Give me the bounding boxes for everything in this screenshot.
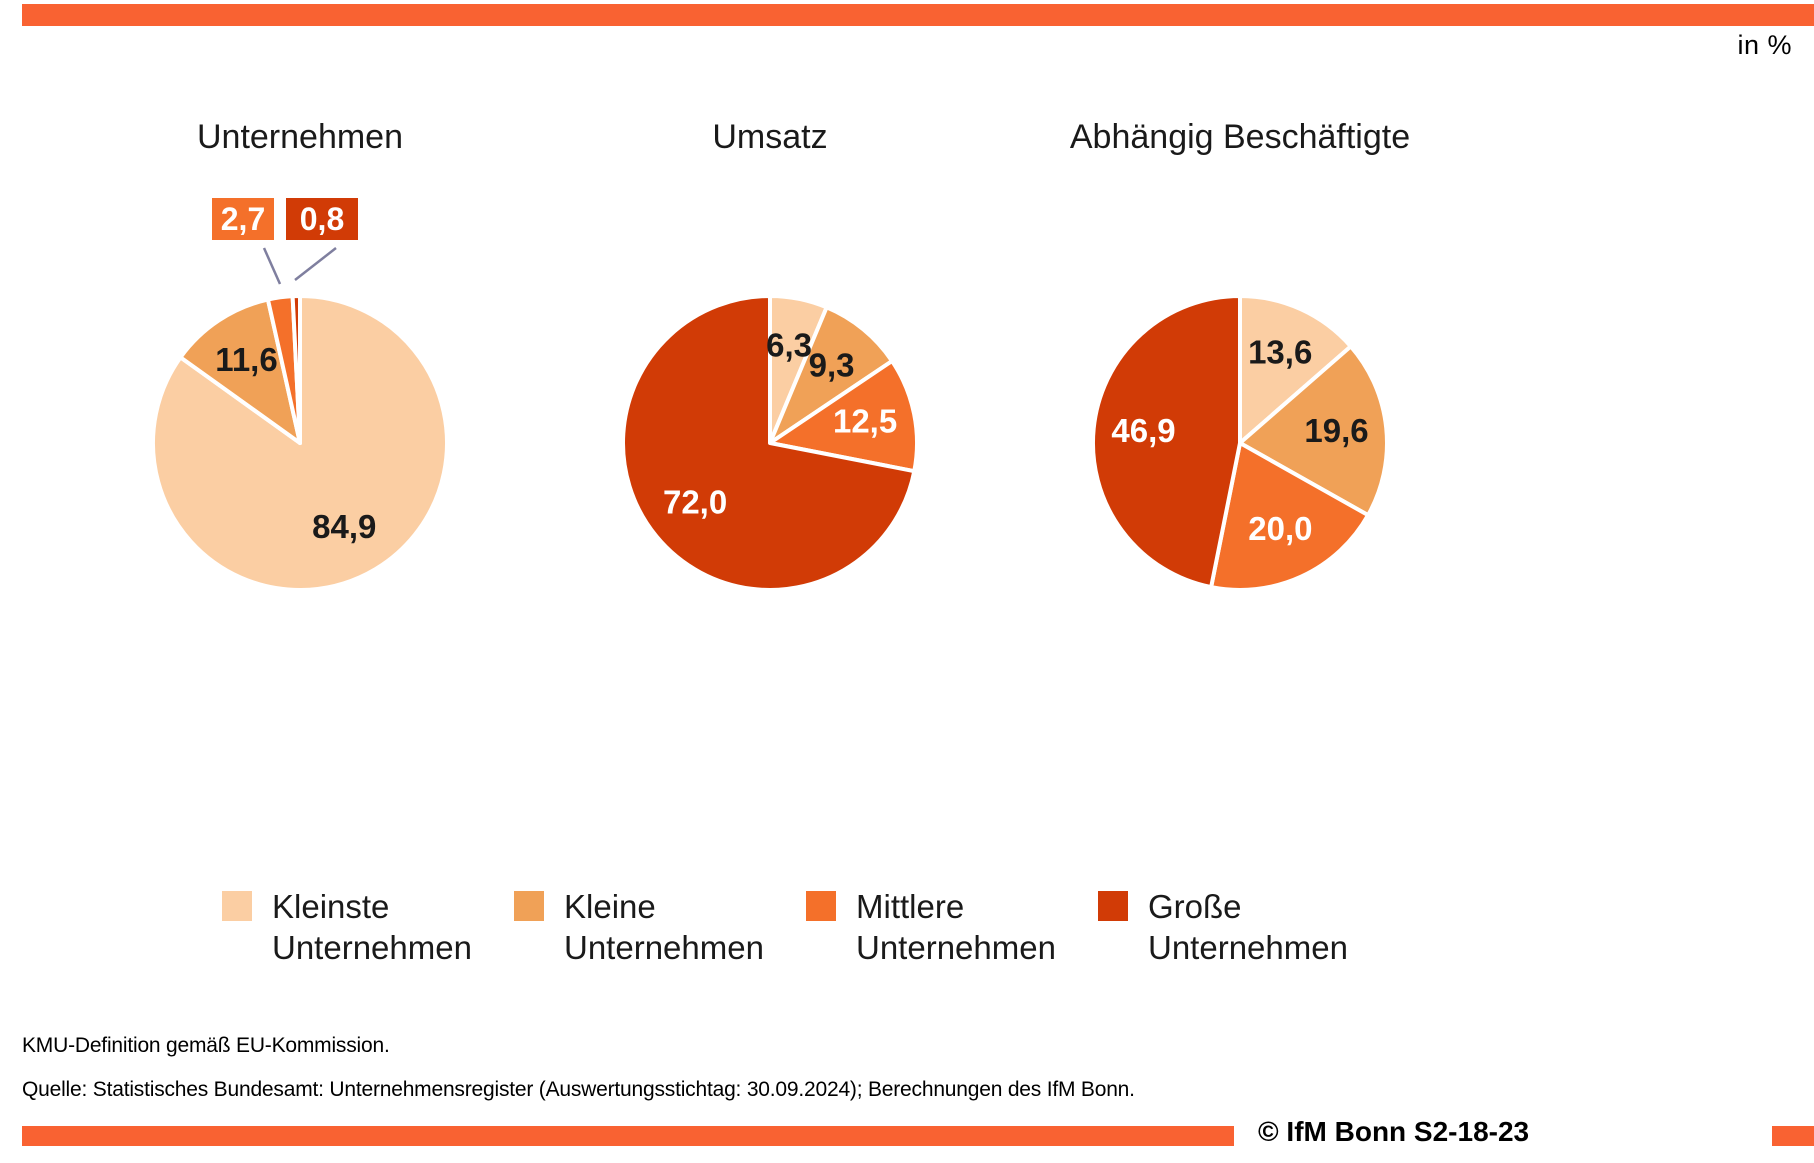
footnote-kmu-definition: KMU-Definition gemäß EU-Kommission. bbox=[22, 1034, 1722, 1058]
pie-slice bbox=[1240, 346, 1387, 515]
legend: Kleinste Unternehmen Kleine Unternehmen … bbox=[0, 886, 1814, 968]
legend-item-mittlere-unternehmen[interactable]: Mittlere Unternehmen bbox=[806, 886, 1098, 968]
leader-line-0-8 bbox=[295, 248, 336, 280]
pie-slice bbox=[770, 296, 827, 443]
copyright-label: © IfM Bonn S2-18-23 bbox=[1258, 1116, 1758, 1148]
callout-value-mittlere-unternehmen: 2,7 bbox=[212, 198, 274, 240]
chart-titles-row: Unternehmen Umsatz Abhängig Beschäftigte bbox=[0, 118, 1814, 164]
pie-slice-label: 20,0 bbox=[1248, 510, 1312, 547]
legend-item-grosse-unternehmen[interactable]: Große Unternehmen bbox=[1098, 886, 1390, 968]
footnote-source: Quelle: Statistisches Bundesamt: Unterne… bbox=[22, 1078, 1722, 1102]
callout-leader-lines bbox=[240, 248, 380, 328]
pie-slice-label: 84,9 bbox=[312, 508, 376, 545]
legend-label-mittlere: Mittlere Unternehmen bbox=[856, 886, 1056, 968]
pie-slice bbox=[1211, 443, 1368, 590]
pie-slice-label: 19,6 bbox=[1304, 412, 1368, 449]
pie-slice-label: 72,0 bbox=[663, 483, 727, 520]
legend-label-kleinste: Kleinste Unternehmen bbox=[272, 886, 472, 968]
pie-slice bbox=[1093, 296, 1240, 587]
bottom-accent-bar-right bbox=[1772, 1126, 1814, 1146]
pie-slice-label: 12,5 bbox=[833, 403, 897, 440]
pie-chart-umsatz: 6,39,312,572,0 bbox=[622, 295, 918, 591]
pie-slice bbox=[153, 296, 447, 590]
legend-item-kleinste-unternehmen[interactable]: Kleinste Unternehmen bbox=[222, 886, 514, 968]
pie-chart-beschaeftigte: 13,619,620,046,9 bbox=[1092, 295, 1388, 591]
legend-swatch-grosse bbox=[1098, 891, 1128, 921]
pie-charts-area: 84,911,6 6,39,312,572,0 13,619,620,046,9 bbox=[0, 0, 1814, 1163]
bottom-accent-bar-left bbox=[22, 1126, 1234, 1146]
legend-swatch-kleinste bbox=[222, 891, 252, 921]
leader-line-2-7 bbox=[264, 248, 280, 284]
pie-slice-label: 11,6 bbox=[215, 341, 277, 378]
pie-slice bbox=[1240, 296, 1351, 443]
legend-label-kleine: Kleine Unternehmen bbox=[564, 886, 764, 968]
pie-slice-label: 46,9 bbox=[1111, 412, 1175, 449]
legend-item-kleine-unternehmen[interactable]: Kleine Unternehmen bbox=[514, 886, 806, 968]
chart-title-unternehmen: Unternehmen bbox=[197, 118, 403, 157]
callout-value-grosse-unternehmen: 0,8 bbox=[286, 198, 358, 240]
pie-slice bbox=[770, 307, 892, 443]
top-accent-bar bbox=[22, 4, 1814, 26]
legend-label-grosse: Große Unternehmen bbox=[1148, 886, 1348, 968]
legend-swatch-mittlere bbox=[806, 891, 836, 921]
legend-swatch-kleine bbox=[514, 891, 544, 921]
pie-chart-unternehmen: 84,911,6 bbox=[152, 295, 448, 591]
pie-slice bbox=[623, 296, 914, 590]
pie-slice-label: 6,3 bbox=[766, 327, 812, 364]
pie-slice-label: 13,6 bbox=[1248, 333, 1312, 370]
footnotes: KMU-Definition gemäß EU-Kommission. Quel… bbox=[22, 1034, 1722, 1122]
pie-slice-label: 9,3 bbox=[809, 347, 855, 384]
pie-slice bbox=[770, 361, 917, 471]
chart-title-beschaeftigte: Abhängig Beschäftigte bbox=[1070, 118, 1410, 157]
unit-label: in % bbox=[1737, 30, 1792, 61]
chart-title-umsatz: Umsatz bbox=[712, 118, 827, 157]
